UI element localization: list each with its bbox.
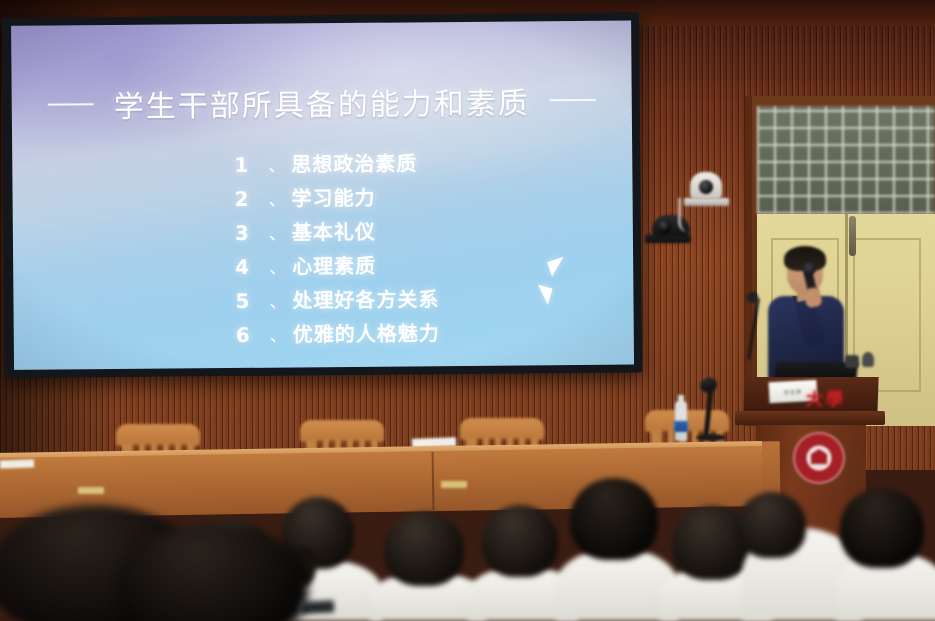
phone-on-desk (300, 600, 335, 614)
list-item-text: 处理好各方关系 (292, 283, 439, 313)
list-item: 2 、 学习能力 (234, 180, 614, 212)
list-item-separator: 、 (269, 254, 286, 279)
chair-backrest (300, 420, 384, 442)
list-item: 1 、 思想政治素质 (234, 146, 614, 178)
list-item-text: 思想政治素质 (291, 147, 417, 177)
list-item-number: 5 (235, 289, 269, 313)
slide-bullet-list: 1 、 思想政治素质 2 、 学习能力 3 、 基本礼仪 4 、 心理素 (234, 146, 616, 348)
list-item-text: 优雅的人格魅力 (293, 317, 440, 347)
paper-on-table (0, 459, 34, 468)
audience-head (482, 505, 558, 577)
podium-equipment-a (845, 355, 859, 368)
list-item-separator: 、 (269, 288, 286, 313)
list-item-text: 基本礼仪 (292, 216, 376, 246)
list-item: 5 、 处理好各方关系 (235, 282, 615, 314)
title-dash-right-icon (550, 99, 596, 101)
title-dash-left-icon (48, 103, 94, 105)
audience-head (840, 488, 924, 568)
list-item-text: 学习能力 (291, 182, 375, 212)
slide-title: 学生干部所具备的能力和素质 (114, 78, 530, 126)
list-item-number: 2 (234, 187, 268, 211)
projection-screen-bezel: 学生干部所具备的能力和素质 1 、 思想政治素质 2 、 学习能力 3 、 基本… (2, 12, 642, 378)
list-item-number: 3 (235, 221, 269, 245)
list-item-separator: 、 (268, 152, 285, 177)
list-item: 6 、 优雅的人格魅力 (236, 316, 616, 348)
list-item-number: 6 (236, 323, 270, 347)
podium-equipment-b (862, 352, 874, 367)
table-name-tag (441, 481, 467, 488)
floor-microphone-head-icon (747, 292, 758, 303)
ceiling-camera-white-icon (690, 172, 722, 199)
projection-screen: 学生干部所具备的能力和素质 1 、 思想政治素质 2 、 学习能力 3 、 基本… (11, 21, 634, 370)
podium-university-characters: 大學 (805, 385, 846, 410)
chair-backrest (116, 424, 200, 446)
list-item-separator: 、 (269, 220, 286, 245)
lecture-hall-scene: 学生干部所具备的能力和素质 1 、 思想政治素质 2 、 学习能力 3 、 基本… (0, 0, 935, 621)
ceiling-camera-white-mount (684, 198, 729, 206)
table-name-tag (78, 487, 104, 494)
list-item-separator: 、 (270, 322, 287, 347)
desk-microphone-base (696, 434, 726, 441)
list-item-number: 4 (235, 255, 269, 279)
list-item: 3 、 基本礼仪 (235, 214, 615, 246)
audience-head (738, 492, 806, 558)
audience-head (570, 478, 658, 560)
podium-lip (735, 411, 885, 425)
water-bottle-label (674, 421, 688, 432)
list-item-text: 心理素质 (292, 250, 376, 280)
handheld-microphone-head-icon (803, 262, 816, 275)
university-seal-icon (793, 432, 845, 484)
slide-title-row: 学生干部所具备的能力和素质 (12, 78, 632, 127)
chair-backrest (460, 418, 544, 440)
list-item-separator: 、 (268, 186, 285, 211)
door-handle (849, 216, 856, 256)
audience-head (384, 512, 464, 586)
list-item-number: 1 (234, 153, 268, 177)
transom-window (757, 106, 935, 214)
